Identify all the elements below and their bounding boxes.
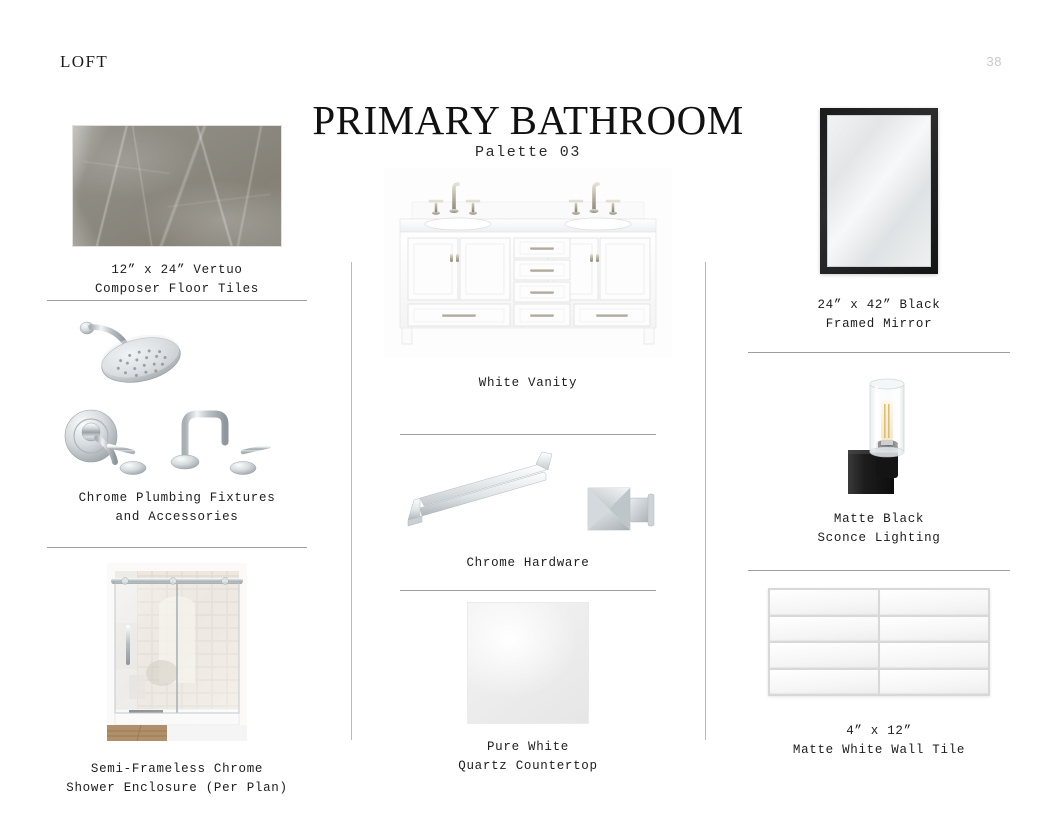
wall-tile-unit — [880, 670, 988, 695]
material-caption: 12” x 24” Vertuo Composer Floor Tiles — [47, 261, 307, 299]
section-rule — [47, 547, 307, 548]
material-card-mirror: 24” x 42” Black Framed Mirror — [748, 108, 1010, 334]
section-rule — [400, 434, 656, 435]
material-card-wall-tile: 4” x 12” Matte White Wall Tile — [748, 588, 1010, 760]
wall-tile-unit — [770, 617, 878, 642]
shower-enclosure-photo — [107, 563, 247, 746]
material-card-vanity: White Vanity — [384, 168, 672, 393]
material-card-hardware: Chrome Hardware — [384, 446, 672, 573]
wall-tile-unit — [880, 643, 988, 668]
section-rule — [400, 590, 656, 591]
wall-tile-grid — [768, 588, 990, 696]
material-caption: 4” x 12” Matte White Wall Tile — [748, 722, 1010, 760]
mirror-glass — [827, 115, 931, 267]
material-caption: Semi-Frameless Chrome Shower Enclosure (… — [47, 760, 307, 798]
material-card-countertop: Pure White Quartz Countertop — [384, 602, 672, 776]
white-subway-tile-photo — [748, 588, 1010, 710]
column-divider-right — [705, 262, 706, 740]
column-divider-left — [351, 262, 352, 740]
chrome-hardware-illustration — [384, 446, 672, 544]
quartz-swatch — [467, 602, 589, 724]
material-caption: Pure White Quartz Countertop — [384, 738, 672, 776]
brand-logo: LOFT — [60, 52, 108, 72]
black-framed-mirror-photo — [748, 108, 1010, 280]
section-rule — [47, 300, 307, 301]
floor-tile-swatch — [72, 125, 282, 247]
wall-tile-unit — [770, 643, 878, 668]
mirror-frame — [820, 108, 938, 274]
matte-black-sconce-photo — [748, 362, 1010, 502]
material-card-shower-enclosure: Semi-Frameless Chrome Shower Enclosure (… — [47, 563, 307, 798]
wall-tile-unit — [770, 590, 878, 615]
material-caption: Chrome Plumbing Fixtures and Accessories — [47, 489, 307, 527]
material-caption: White Vanity — [384, 374, 672, 393]
material-caption: Chrome Hardware — [384, 554, 672, 573]
page-number: 38 — [987, 54, 1002, 69]
material-card-floor-tile: 12” x 24” Vertuo Composer Floor Tiles — [47, 125, 307, 299]
wall-tile-unit — [770, 670, 878, 695]
wall-tile-unit — [880, 590, 988, 615]
section-rule — [748, 352, 1010, 353]
material-card-plumbing: Chrome Plumbing Fixtures and Accessories — [47, 316, 307, 527]
white-double-vanity-photo — [384, 168, 672, 358]
material-caption: Matte Black Sconce Lighting — [748, 510, 1010, 548]
wall-tile-unit — [880, 617, 988, 642]
material-caption: 24” x 42” Black Framed Mirror — [748, 296, 1010, 334]
chrome-plumbing-fixtures-illustration — [47, 316, 307, 481]
material-card-sconce: Matte Black Sconce Lighting — [748, 362, 1010, 548]
section-rule — [748, 570, 1010, 571]
